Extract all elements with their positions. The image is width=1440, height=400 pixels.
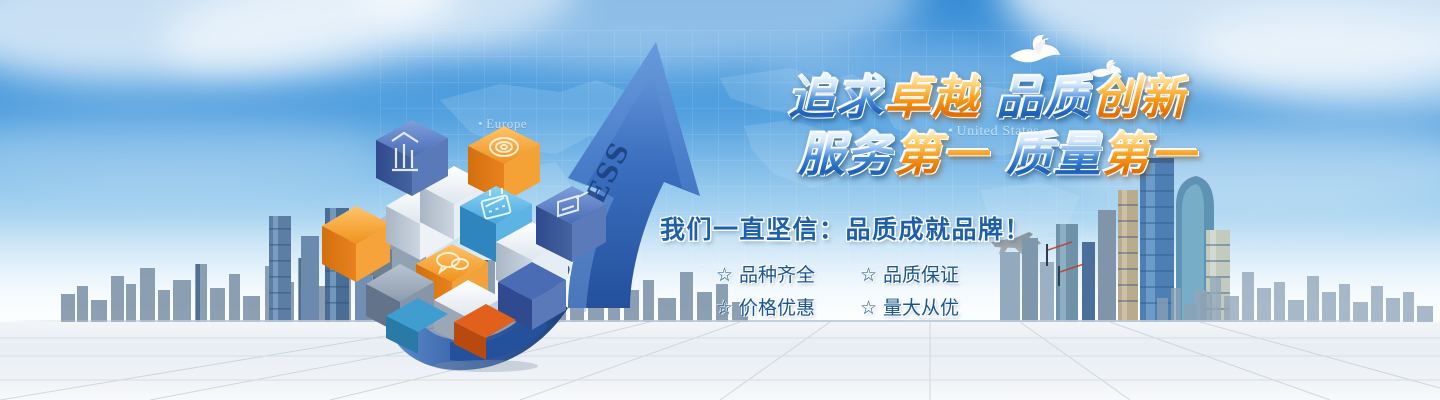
- headline-line-1: 追求卓越品质创新: [660, 70, 1200, 127]
- feature-item: ☆量大从优: [860, 293, 990, 320]
- arrow-business-label: BUSINESS: [530, 137, 637, 310]
- feature-item: ☆品质保证: [860, 260, 990, 287]
- cloud-shape: [0, 110, 380, 190]
- feature-item: ☆品种齐全: [716, 260, 846, 287]
- subtitle: 我们一直坚信：品质成就品牌！: [660, 210, 1200, 246]
- feature-label: 价格优惠: [739, 297, 815, 319]
- svg-text:BUSINESS: BUSINESS: [530, 137, 637, 310]
- skyline-right-far: [1190, 256, 1440, 326]
- headline: 追求卓越品质创新 服务第一质量第一: [660, 70, 1200, 184]
- headline-seg-blue: 服务: [798, 127, 894, 184]
- skyline-left: [55, 246, 755, 326]
- feature-label: 品质保证: [883, 264, 959, 286]
- feature-label: 量大从优: [883, 297, 959, 319]
- headline-seg-gold: 第一: [1102, 127, 1198, 184]
- headline-seg-blue: 追求: [788, 70, 884, 127]
- cloud-shape: [0, 0, 466, 102]
- cloud-shape: [1186, 0, 1440, 127]
- feature-label: 品种齐全: [739, 264, 815, 286]
- headline-seg-blue: 品质: [996, 70, 1092, 127]
- dove-icon: [1006, 32, 1062, 66]
- map-label-europe: Europe: [478, 116, 527, 132]
- headline-line-2: 服务第一质量第一: [660, 127, 1200, 184]
- feature-item: ☆价格优惠: [716, 293, 846, 320]
- plaza-floor: [0, 322, 1440, 400]
- map-label-china: China: [444, 188, 486, 204]
- business-banner: Europe United States China Australia: [0, 0, 1440, 400]
- headline-seg-gold: 卓越: [884, 70, 980, 127]
- star-icon: ☆: [716, 264, 733, 286]
- star-icon: ☆: [860, 264, 877, 286]
- headline-seg-gold: 创新: [1092, 70, 1188, 127]
- cloud-shape: [360, 0, 920, 70]
- star-icon: ☆: [860, 297, 877, 319]
- headline-seg-gold: 第一: [894, 127, 990, 184]
- copy-block: 追求卓越品质创新 服务第一质量第一 我们一直坚信：品质成就品牌！ ☆品种齐全 ☆…: [660, 70, 1200, 320]
- feature-list: ☆品种齐全 ☆品质保证 ☆价格优惠 ☆量大从优: [716, 260, 1200, 320]
- skyline-towers-left: [255, 206, 415, 326]
- star-icon: ☆: [716, 297, 733, 319]
- plaza-horizon-line: [0, 320, 1440, 322]
- cloud-shape: [154, 0, 585, 99]
- headline-seg-blue: 质量: [1006, 127, 1102, 184]
